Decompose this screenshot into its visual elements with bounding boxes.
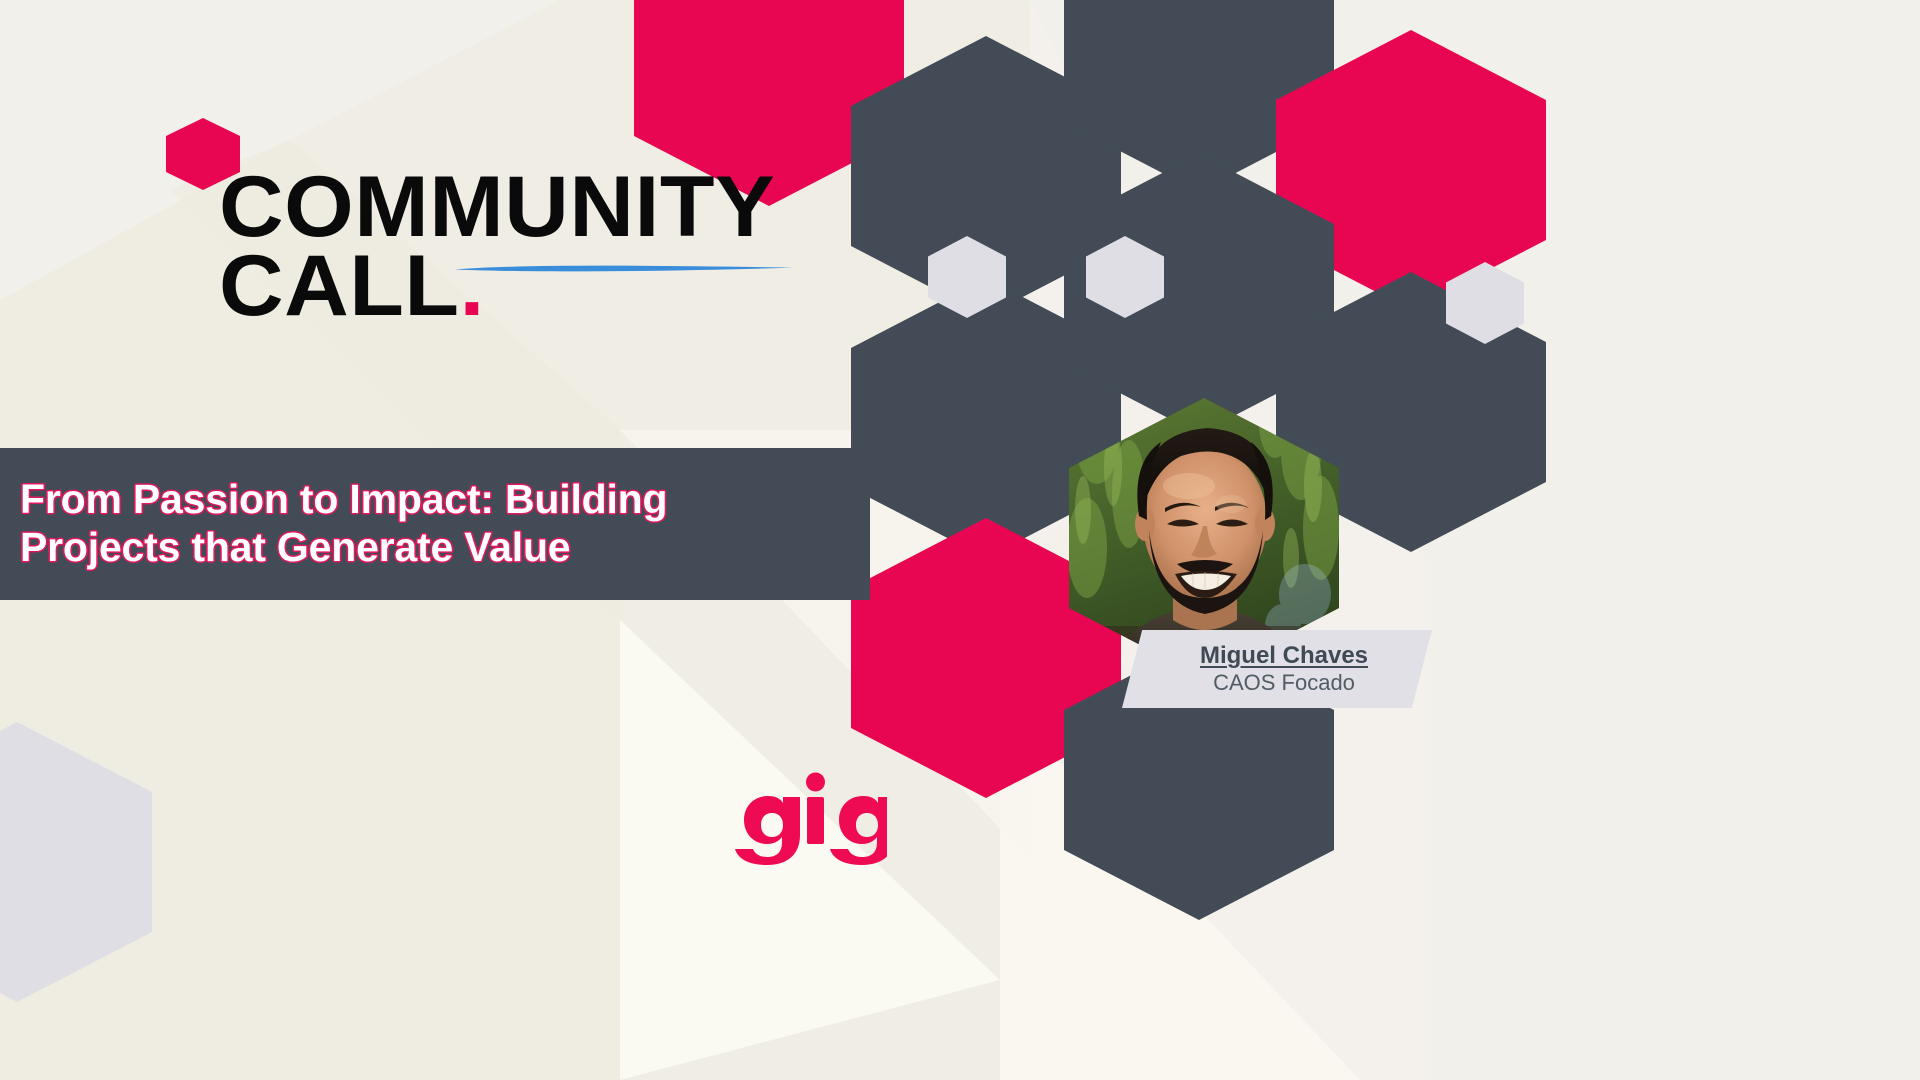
gig-logo [727,765,887,865]
slide-canvas: COMMUNITY CALL. From Passion to Impact: … [0,0,1920,1080]
speaker-name: Miguel Chaves [1200,643,1368,670]
heading-call-text: CALL [219,238,460,334]
session-title-line-1: From Passion to Impact: Building [20,476,870,524]
heading-line-call: CALL. [219,247,775,326]
session-title-line-2: Projects that Generate Value [20,524,870,572]
speaker-nameplate: Miguel Chaves CAOS Focado [1122,630,1432,708]
community-call-heading: COMMUNITY CALL. [219,168,754,326]
heading-line-community: COMMUNITY [219,168,775,247]
heading-period: . [460,238,485,334]
hex-bottom-left-gray [0,722,152,1002]
session-title-banner: From Passion to Impact: Building Project… [0,448,870,600]
heading-underline-stroke [452,262,796,274]
speaker-role: CAOS Focado [1213,670,1355,695]
